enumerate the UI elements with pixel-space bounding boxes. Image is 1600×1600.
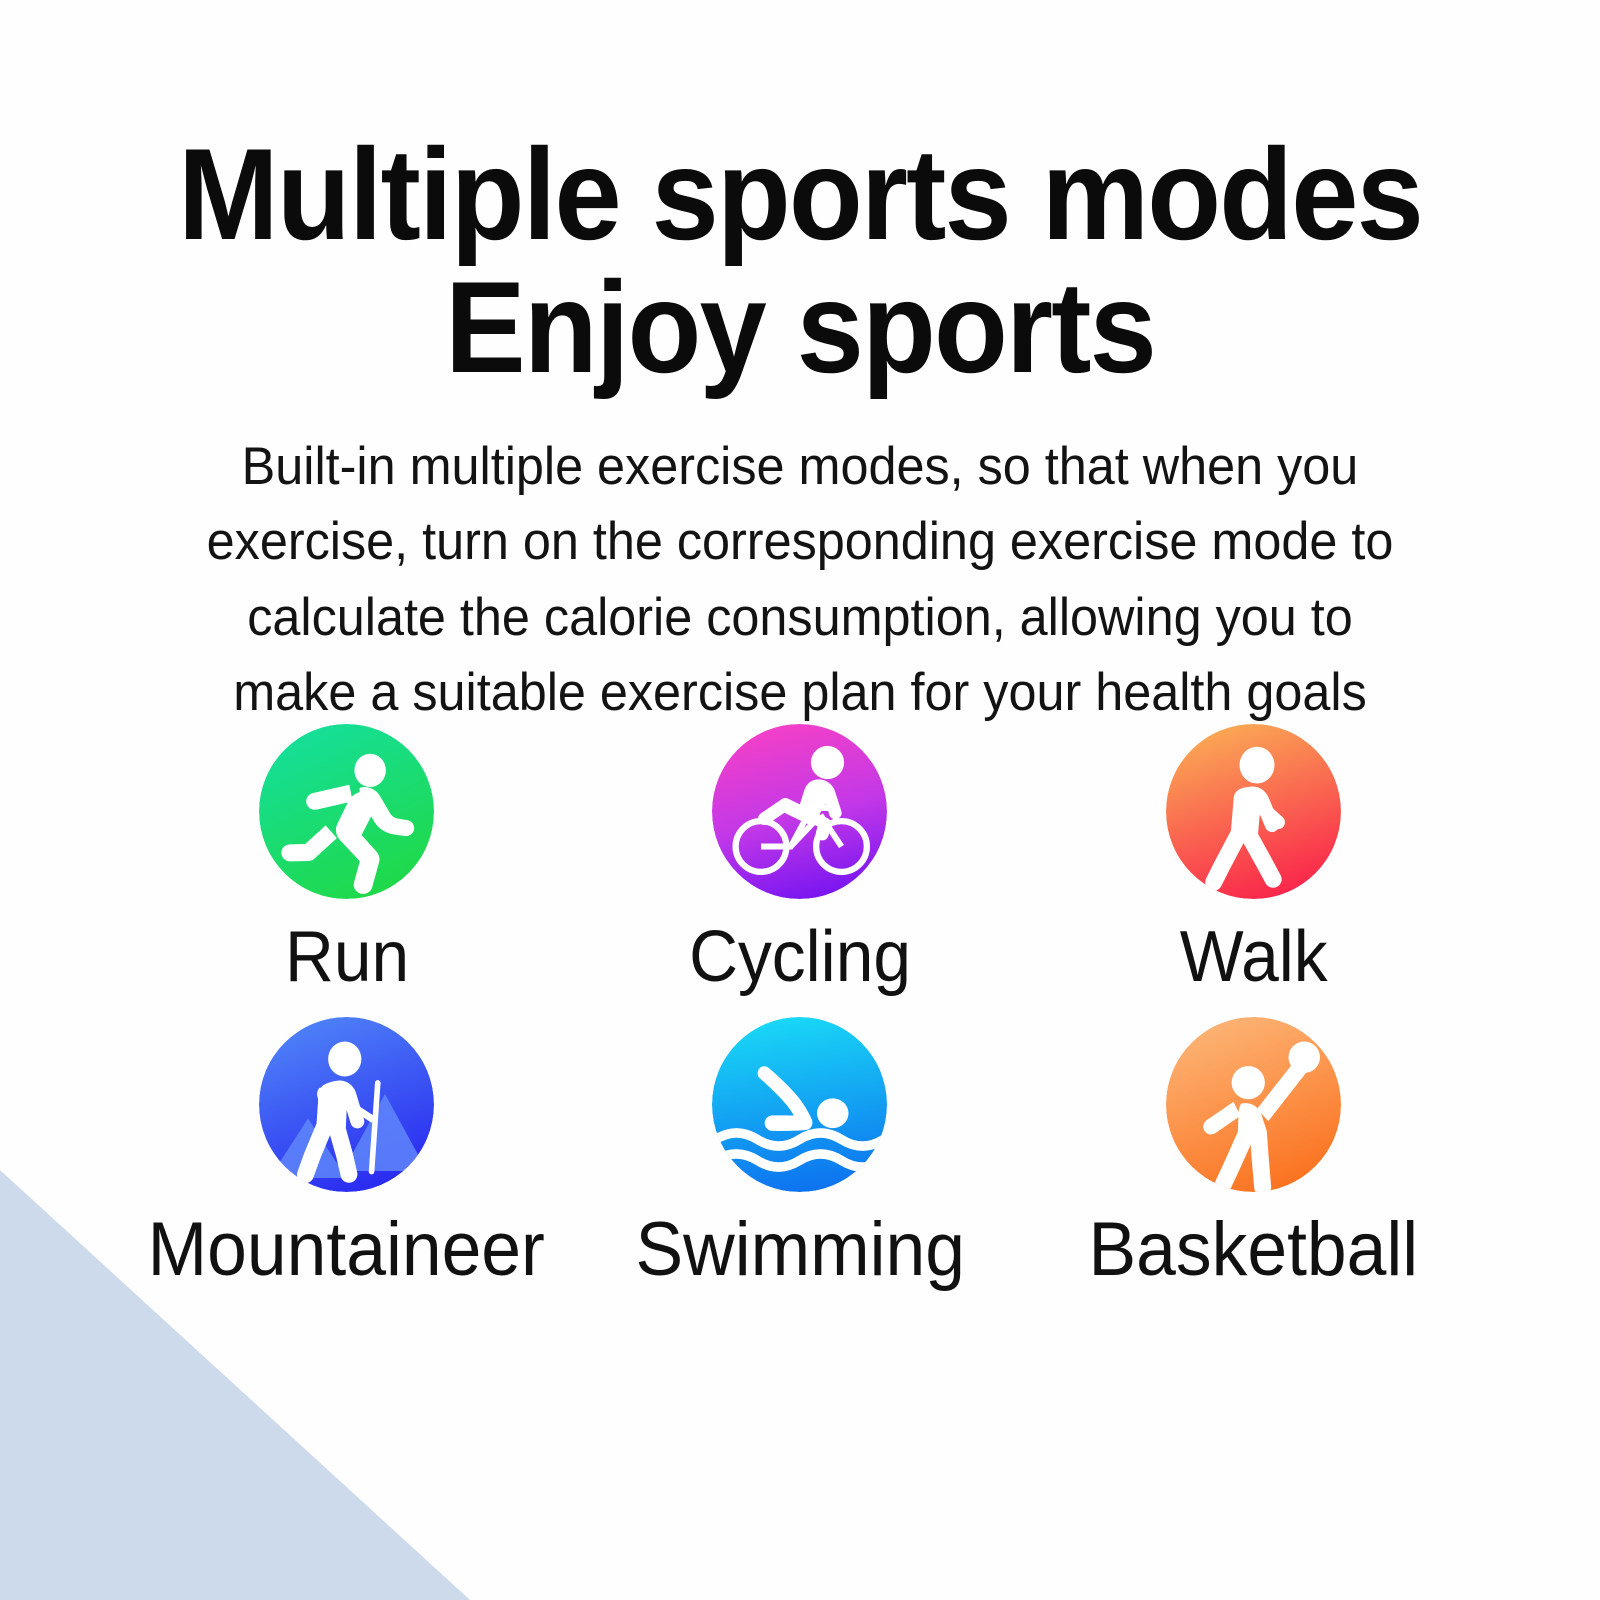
sport-mode-label: Swimming bbox=[635, 1212, 964, 1288]
running-person-icon[interactable] bbox=[259, 724, 434, 899]
basketball-player-icon[interactable] bbox=[1166, 1017, 1341, 1192]
sport-mode-label: Run bbox=[285, 921, 409, 993]
promo-page: Multiple sports modes Enjoy sports Built… bbox=[0, 0, 1600, 1600]
sport-mode-label: Cycling bbox=[689, 921, 911, 993]
sport-mode-label: Basketball bbox=[1089, 1212, 1419, 1288]
sports-modes-grid: Run bbox=[0, 724, 1600, 1288]
page-title: Multiple sports modes Enjoy sports bbox=[56, 0, 1544, 393]
page-description: Built-in multiple exercise modes, so tha… bbox=[40, 393, 1560, 730]
page-title-line-2: Enjoy sports bbox=[56, 261, 1544, 394]
swimmer-icon[interactable] bbox=[712, 1017, 887, 1192]
sport-mode-cycling[interactable]: Cycling bbox=[573, 724, 1026, 993]
sport-mode-label: Mountaineer bbox=[148, 1212, 545, 1288]
hiker-icon[interactable] bbox=[259, 1017, 434, 1192]
sport-mode-swimming[interactable]: Swimming bbox=[573, 1017, 1026, 1288]
sport-mode-walk[interactable]: Walk bbox=[1027, 724, 1480, 993]
sport-mode-run[interactable]: Run bbox=[120, 724, 573, 993]
page-title-line-1: Multiple sports modes bbox=[178, 121, 1422, 267]
sport-mode-basketball[interactable]: Basketball bbox=[1027, 1017, 1480, 1288]
sport-mode-label: Walk bbox=[1179, 921, 1327, 993]
sport-mode-mountaineer[interactable]: Mountaineer bbox=[120, 1017, 573, 1288]
page-content: Multiple sports modes Enjoy sports Built… bbox=[0, 0, 1600, 1288]
walking-person-icon[interactable] bbox=[1166, 724, 1341, 899]
cyclist-icon[interactable] bbox=[712, 724, 887, 899]
